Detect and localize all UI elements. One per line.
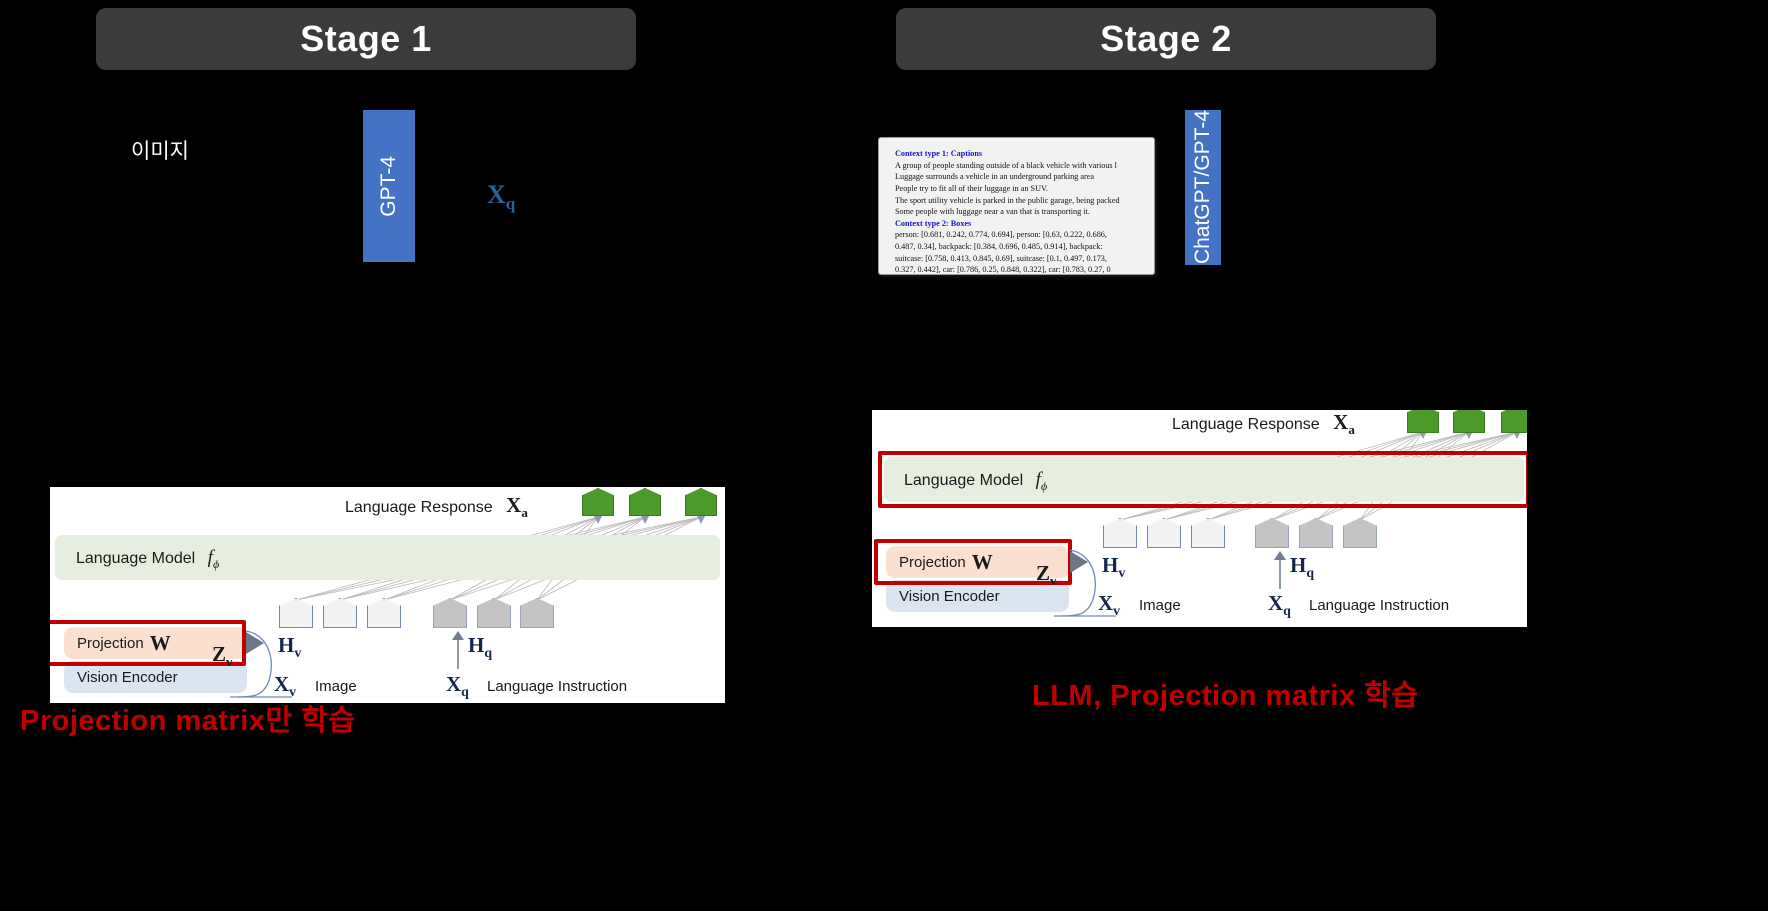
stage1-xq-subscript: q (506, 194, 515, 213)
stage-1-title: Stage 1 (300, 18, 432, 60)
context-caption-line: A group of people standing outside of a … (895, 160, 1154, 172)
xv-symbol-1: Xv (274, 672, 296, 700)
zv-symbol-2: Zv (1036, 561, 1057, 589)
hq-symbol-2: Hq (1290, 553, 1314, 581)
context-heading-1: Context type 1: Captions (895, 148, 1154, 160)
context-caption-line: The sport utility vehicle is parked in t… (895, 195, 1154, 207)
xv-text-label-1: Image (315, 678, 357, 695)
hq-arrow-1 (457, 639, 459, 669)
language-model-label-2: Language Model fϕ (904, 469, 1047, 494)
response-token (1453, 410, 1485, 433)
image-korean-label: 이미지 (131, 135, 189, 165)
xq-symbol-2: Xq (1268, 591, 1291, 619)
w-symbol-2: W (972, 550, 993, 575)
stage-2-title-pill: Stage 2 (896, 8, 1436, 70)
projection-output-arrow-1 (246, 632, 264, 654)
context-caption-line: People try to fit all of their luggage i… (895, 183, 1154, 195)
stage-1-title-pill: Stage 1 (96, 8, 636, 70)
xa-symbol-1: Xa (506, 493, 528, 517)
stage1-xq-symbol: Xq (487, 180, 515, 214)
gpt4-model-bar: GPT-4 (363, 110, 415, 262)
chatgpt-model-bar: ChatGPT/GPT-4 (1185, 110, 1221, 265)
stage-2-title: Stage 2 (1100, 18, 1232, 60)
stage1-xq-base: X (487, 180, 506, 209)
response-token (1501, 410, 1527, 433)
xq-text-label-1: Language Instruction (487, 678, 627, 695)
w-symbol-1: W (150, 631, 171, 656)
xq-text-label-2: Language Instruction (1309, 597, 1449, 614)
context-box-line: suitcase: [0.758, 0.413, 0.845, 0.69], s… (895, 253, 1154, 265)
llava-architecture-stage1: Language Response Xa Language Model fϕ P… (50, 487, 725, 703)
hv-symbol-2: Hv (1102, 553, 1125, 581)
xv-symbol-2: Xv (1098, 591, 1120, 619)
context-caption-line: Luggage surrounds a vehicle in an underg… (895, 171, 1154, 183)
hv-symbol-1: Hv (278, 633, 301, 661)
llava-architecture-stage2: Language Response Xa Language Model fϕ P… (872, 410, 1527, 627)
language-model-label-1: Language Model fϕ (76, 547, 219, 572)
gpt4-model-bar-label: GPT-4 (377, 156, 401, 217)
response-token (1407, 410, 1439, 433)
hq-arrow-2 (1279, 559, 1281, 589)
context-text-card: Context type 1: Captions A group of peop… (878, 137, 1155, 275)
xa-symbol-2: Xa (1333, 410, 1355, 434)
slide-canvas: Stage 1 이미지 GPT-4 Xq Stage 2 ChatGPT/GPT… (0, 0, 1768, 911)
context-heading-2: Context type 2: Boxes (895, 218, 1154, 230)
hq-symbol-1: Hq (468, 633, 492, 661)
stage1-annotation: Projection matrix만 학습 (20, 697, 356, 739)
context-box-line: 0.327, 0.442], car: [0.786, 0.25, 0.848,… (895, 264, 1154, 275)
f-phi-symbol-2: fϕ (1036, 469, 1048, 490)
context-box-line: 0.487, 0.34], backpack: [0.384, 0.696, 0… (895, 241, 1154, 253)
stage2-annotation: LLM, Projection matrix 학습 (1032, 672, 1419, 714)
language-response-label-2: Language Response Xa (1172, 410, 1355, 438)
chatgpt-model-bar-label: ChatGPT/GPT-4 (1191, 110, 1215, 264)
context-caption-line: Some people with luggage near a van that… (895, 206, 1154, 218)
context-box-line: person: [0.681, 0.242, 0.774, 0.694], pe… (895, 229, 1154, 241)
language-response-label-1: Language Response Xa (345, 493, 528, 521)
f-phi-symbol-1: fϕ (208, 547, 220, 568)
xq-symbol-1: Xq (446, 672, 469, 700)
zv-symbol-1: Zv (212, 642, 233, 670)
projection-output-arrow-2 (1070, 551, 1088, 573)
xv-text-label-2: Image (1139, 597, 1181, 614)
